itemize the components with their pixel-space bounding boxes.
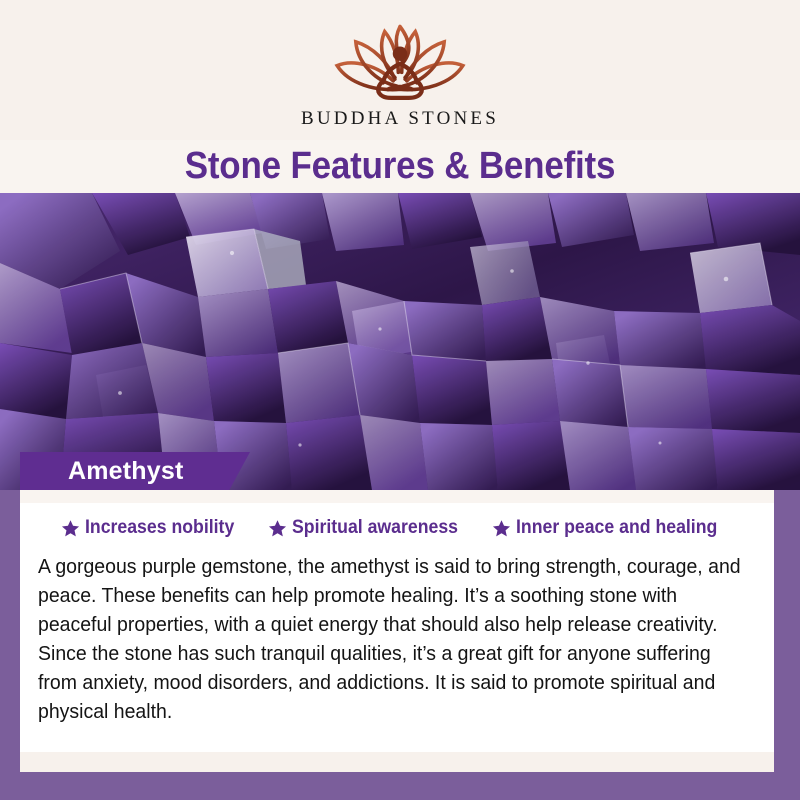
benefit-label: Inner peace and healing [516, 517, 717, 539]
benefit-label: Increases nobility [85, 517, 234, 539]
benefit-label: Spiritual awareness [292, 517, 458, 539]
star-icon [61, 519, 80, 538]
stone-description: A gorgeous purple gemstone, the amethyst… [38, 552, 754, 726]
benefit-item: Spiritual awareness [268, 517, 470, 539]
benefit-item: Increases nobility [61, 517, 246, 539]
content-panel: Increases nobility Spiritual awareness I… [20, 503, 774, 752]
frame-right-lower [774, 490, 800, 772]
brand-wordmark: BUDDHA STONES [301, 108, 499, 130]
stone-name-banner: Amethyst [20, 452, 250, 490]
brand-header: BUDDHA STONES [0, 0, 800, 146]
cream-divider [20, 490, 774, 503]
stone-name-label: Amethyst [20, 457, 184, 486]
frame-bottom [0, 772, 800, 800]
product-info-poster: BUDDHA STONES Stone Features & Benefits [0, 0, 800, 800]
frame-left [0, 490, 20, 772]
lotus-meditation-icon [315, 18, 485, 104]
benefit-item: Inner peace and healing [492, 517, 732, 539]
hero-image [0, 193, 800, 490]
star-icon [268, 519, 287, 538]
page-title: Stone Features & Benefits [185, 145, 616, 188]
star-icon [492, 519, 511, 538]
title-band: Stone Features & Benefits [0, 140, 800, 193]
benefits-list: Increases nobility Spiritual awareness I… [38, 517, 756, 539]
